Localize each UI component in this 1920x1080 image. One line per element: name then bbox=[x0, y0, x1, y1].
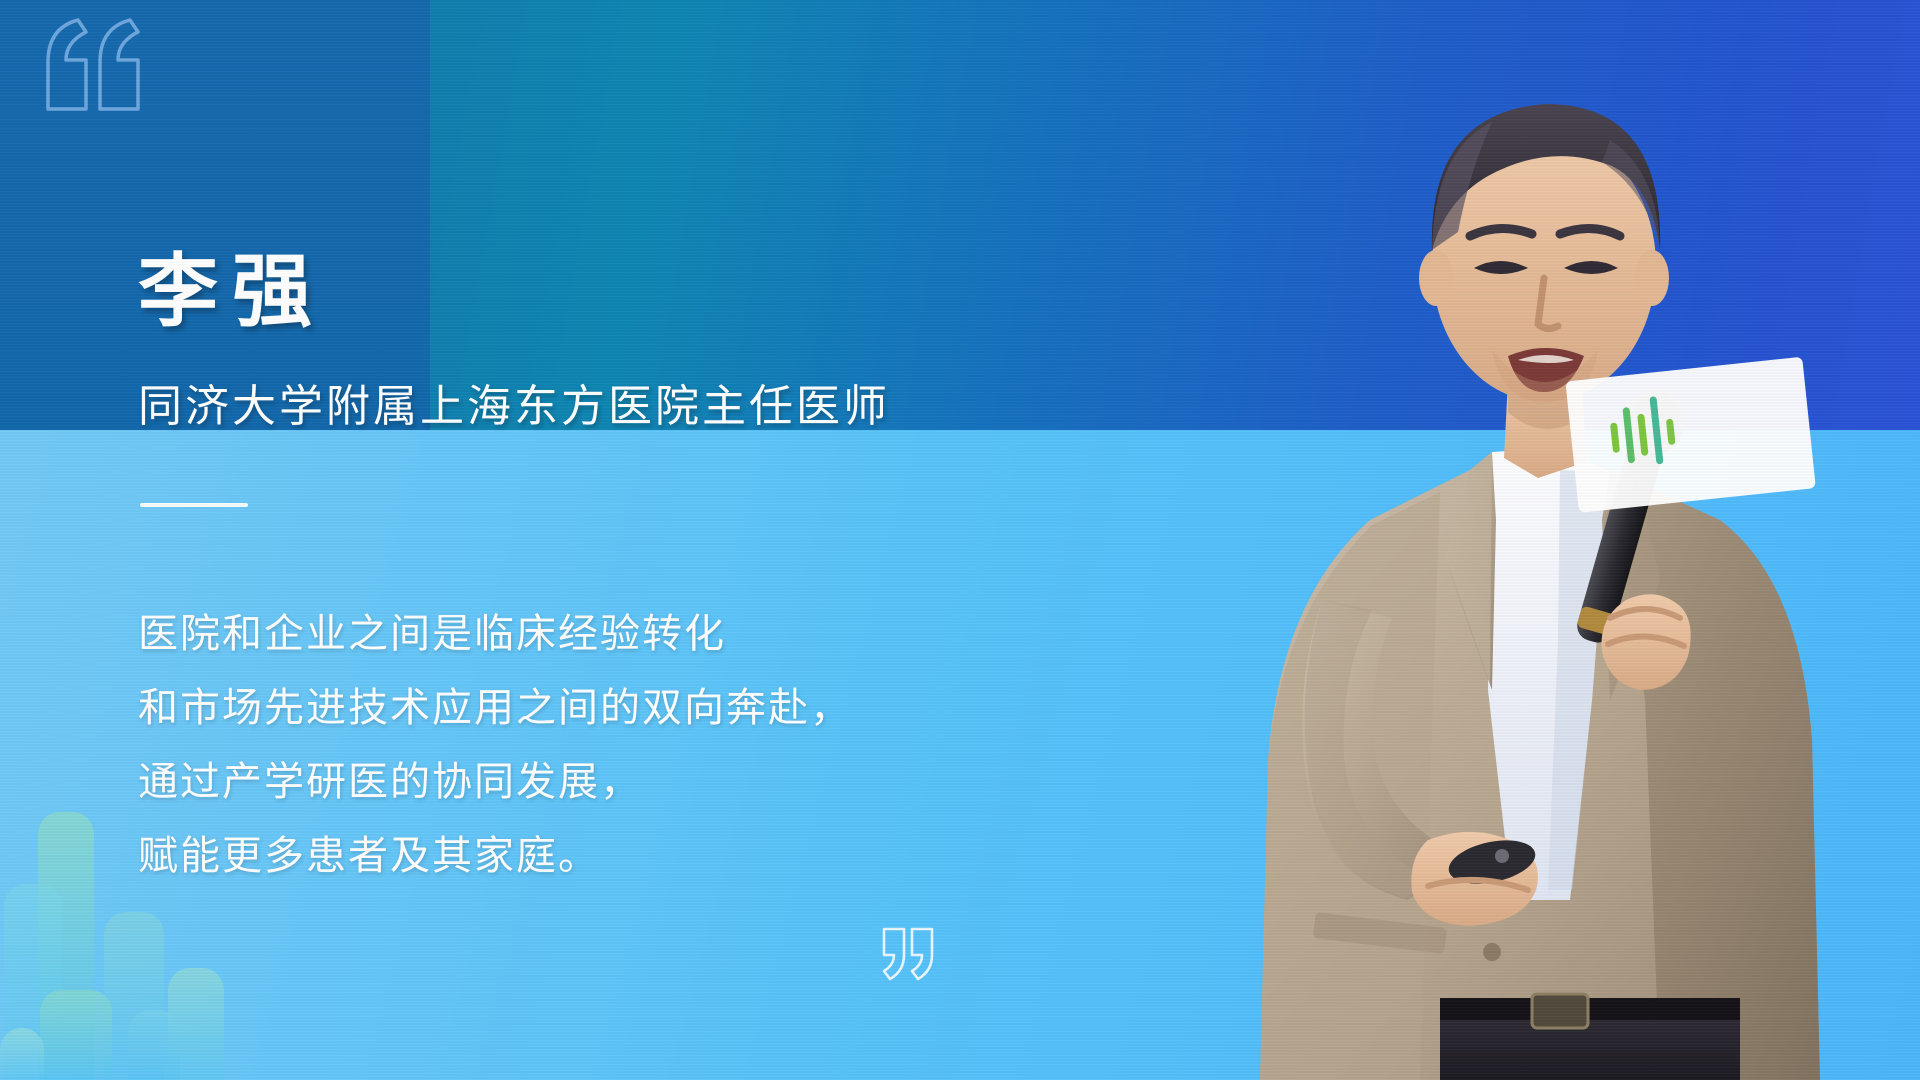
quote-line: 通过产学研医的协同发展， bbox=[138, 745, 1038, 819]
speaker-name: 李强 bbox=[138, 252, 326, 332]
speaker-title: 同济大学附属上海东方医院主任医师 bbox=[138, 385, 890, 429]
decorative-bar bbox=[40, 990, 112, 1080]
quote-line: 赋能更多患者及其家庭。 bbox=[138, 819, 1038, 893]
quote-line: 和市场先进技术应用之间的双向奔赴， bbox=[138, 671, 1038, 745]
quote-line: 医院和企业之间是临床经验转化 bbox=[138, 597, 1038, 671]
decorative-bar bbox=[128, 1010, 180, 1080]
decorative-bar bbox=[0, 1028, 44, 1080]
quote-close-icon bbox=[880, 925, 938, 983]
quote-text-block: 医院和企业之间是临床经验转化 和市场先进技术应用之间的双向奔赴， 通过产学研医的… bbox=[138, 597, 1038, 893]
title-divider bbox=[140, 503, 248, 507]
quote-open-icon bbox=[36, 14, 156, 134]
speaker-photo bbox=[1140, 0, 1920, 1080]
speaker-quote-card: 李强 同济大学附属上海东方医院主任医师 医院和企业之间是临床经验转化 和市场先进… bbox=[0, 0, 1920, 1080]
